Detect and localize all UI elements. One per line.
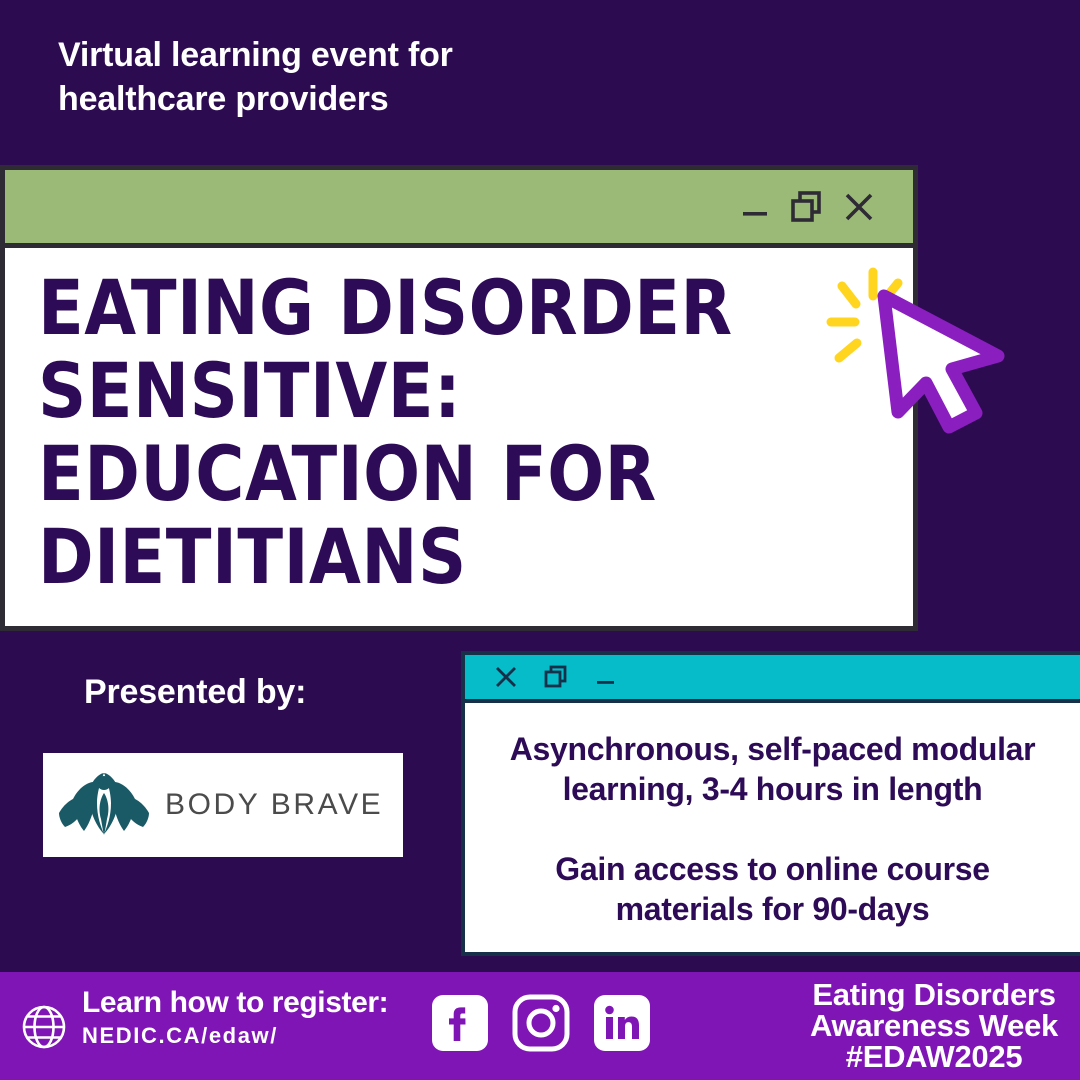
- restore-icon: [542, 663, 570, 691]
- register-title: Learn how to register:: [82, 986, 388, 1020]
- paragraph-spacer: [483, 809, 1062, 849]
- facebook-link[interactable]: [432, 995, 488, 1056]
- header-line-2: healthcare providers: [58, 77, 758, 121]
- title-line-2: SENSITIVE:: [38, 349, 783, 432]
- restore-button[interactable]: [539, 660, 573, 694]
- close-icon: [493, 664, 519, 690]
- minimize-button[interactable]: [589, 660, 623, 694]
- title-line-3: EDUCATION FOR: [38, 432, 783, 515]
- close-button[interactable]: [489, 660, 523, 694]
- register-info[interactable]: Learn how to register: NEDIC.CA/edaw/: [82, 986, 388, 1049]
- restore-button[interactable]: [781, 181, 833, 233]
- page-title: EATING DISORDER SENSITIVE: EDUCATION FOR…: [38, 266, 783, 598]
- detail-p1-line1: Asynchronous, self-paced modular: [483, 729, 1062, 769]
- details-window-body: Asynchronous, self-paced modular learnin…: [465, 703, 1080, 929]
- body-brave-wordmark: BODY BRAVE: [165, 788, 383, 822]
- register-url[interactable]: NEDIC.CA/edaw/: [82, 1023, 388, 1049]
- close-button[interactable]: [833, 181, 885, 233]
- facebook-icon: [432, 995, 488, 1051]
- restore-icon: [788, 188, 826, 226]
- main-window-titlebar: [5, 170, 913, 248]
- detail-p2-line2: materials for 90-days: [483, 889, 1062, 929]
- details-window-titlebar: [465, 655, 1080, 703]
- title-line-4: DIETITIANS: [38, 515, 783, 598]
- instagram-icon: [512, 994, 570, 1052]
- instagram-link[interactable]: [512, 994, 570, 1057]
- header-line-1: Virtual learning event for: [58, 33, 758, 77]
- campaign-line-1: Eating Disorders: [810, 979, 1058, 1010]
- detail-p2-line1: Gain access to online course: [483, 849, 1062, 889]
- minimize-icon: [738, 190, 772, 224]
- minimize-button[interactable]: [729, 181, 781, 233]
- detail-p1-line2: learning, 3-4 hours in length: [483, 769, 1062, 809]
- campaign-line-2: Awareness Week: [810, 1010, 1058, 1041]
- details-window: Asynchronous, self-paced modular learnin…: [461, 651, 1080, 956]
- linkedin-icon: [594, 995, 650, 1051]
- campaign-line-3: #EDAW2025: [810, 1041, 1058, 1072]
- lotus-icon: [57, 769, 151, 841]
- globe-svg: [20, 1003, 68, 1051]
- presented-by-label: Presented by:: [84, 673, 306, 712]
- detail-paragraph-1: Asynchronous, self-paced modular learnin…: [483, 729, 1062, 809]
- close-icon: [841, 189, 877, 225]
- header-text: Virtual learning event for healthcare pr…: [58, 33, 758, 121]
- body-brave-logo: BODY BRAVE: [43, 753, 403, 857]
- title-line-1: EATING DISORDER: [38, 266, 783, 349]
- linkedin-link[interactable]: [594, 995, 650, 1056]
- main-window: EATING DISORDER SENSITIVE: EDUCATION FOR…: [0, 165, 918, 631]
- main-window-body: EATING DISORDER SENSITIVE: EDUCATION FOR…: [5, 248, 913, 626]
- campaign-text: Eating Disorders Awareness Week #EDAW202…: [810, 979, 1058, 1072]
- minimize-icon: [593, 664, 619, 690]
- globe-icon: [20, 1003, 68, 1056]
- social-links: [432, 994, 650, 1057]
- detail-paragraph-2: Gain access to online course materials f…: [483, 849, 1062, 929]
